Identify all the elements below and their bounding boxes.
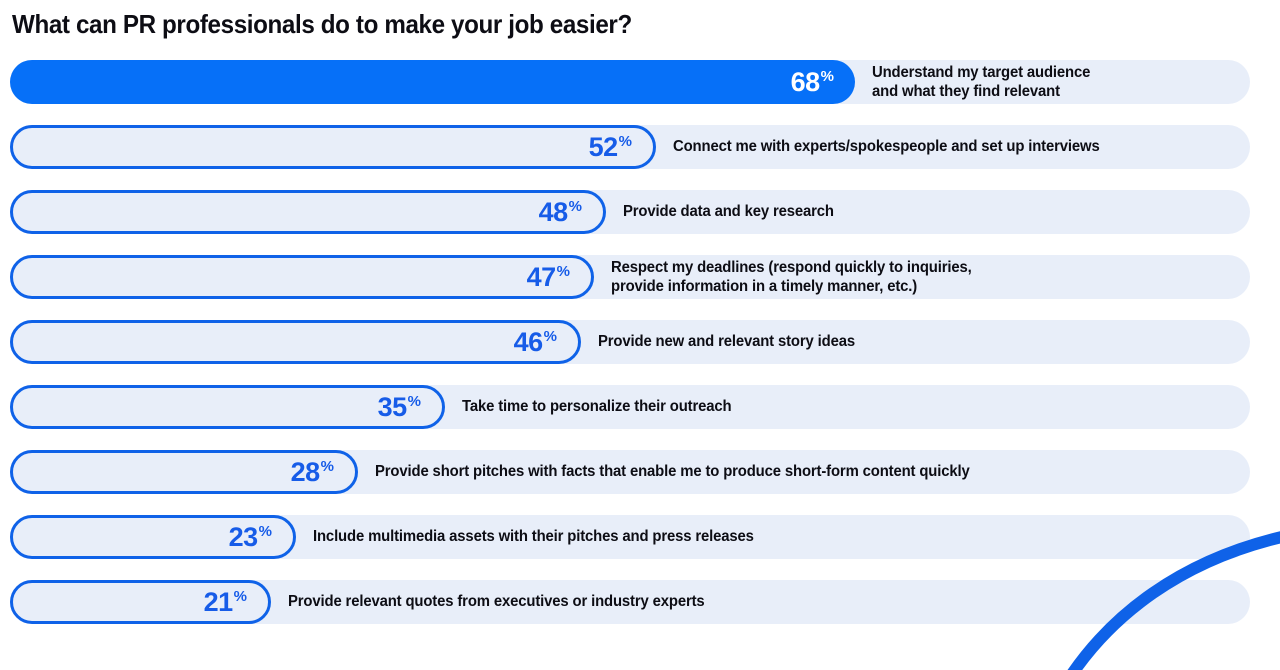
chart-figure: What can PR professionals do to make you… [0, 0, 1280, 670]
bar-68-percent: 68% [10, 60, 855, 104]
label-line: Provide new and relevant story ideas [598, 332, 855, 351]
bar-category-label: Provide data and key research [623, 190, 834, 234]
bar-value-number: 23 [229, 522, 258, 552]
bar-value-label: 23% [229, 524, 293, 551]
label-line: and what they find relevant [872, 82, 1090, 101]
bar-value-number: 21 [204, 587, 233, 617]
percent-symbol: % [557, 263, 570, 280]
percent-symbol: % [321, 458, 334, 475]
bar-46-percent: 46% [10, 320, 581, 364]
label-line: Take time to personalize their outreach [462, 397, 731, 416]
percent-symbol: % [234, 588, 247, 605]
bar-value-label: 52% [589, 134, 653, 161]
bar-value-number: 28 [291, 457, 320, 487]
bar-category-label: Respect my deadlines (respond quickly to… [611, 255, 972, 299]
chart-row: 68%Understand my target audienceand what… [0, 60, 1280, 104]
percent-symbol: % [544, 328, 557, 345]
bar-23-percent: 23% [10, 515, 296, 559]
percent-symbol: % [259, 523, 272, 540]
percent-symbol: % [821, 68, 834, 85]
bar-value-label: 35% [378, 394, 442, 421]
bar-value-number: 68 [791, 67, 820, 97]
bar-value-label: 68% [791, 69, 855, 96]
bar-chart-rows: 68%Understand my target audienceand what… [0, 60, 1280, 645]
bar-category-label: Connect me with experts/spokespeople and… [673, 125, 1100, 169]
bar-category-label: Provide relevant quotes from executives … [288, 580, 705, 624]
page-title: What can PR professionals do to make you… [12, 9, 1109, 40]
bar-value-label: 48% [539, 199, 603, 226]
label-line: Provide data and key research [623, 202, 834, 221]
bar-value-number: 35 [378, 392, 407, 422]
percent-symbol: % [408, 393, 421, 410]
label-line: Understand my target audience [872, 63, 1090, 82]
chart-row: 47%Respect my deadlines (respond quickly… [0, 255, 1280, 299]
label-line: Connect me with experts/spokespeople and… [673, 137, 1100, 156]
label-line: Include multimedia assets with their pit… [313, 527, 754, 546]
chart-row: 35%Take time to personalize their outrea… [0, 385, 1280, 429]
chart-row: 23%Include multimedia assets with their … [0, 515, 1280, 559]
bar-28-percent: 28% [10, 450, 358, 494]
bar-category-label: Include multimedia assets with their pit… [313, 515, 754, 559]
chart-row: 46%Provide new and relevant story ideas [0, 320, 1280, 364]
label-line: Respect my deadlines (respond quickly to… [611, 258, 972, 277]
bar-48-percent: 48% [10, 190, 606, 234]
bar-35-percent: 35% [10, 385, 445, 429]
bar-value-number: 48 [539, 197, 568, 227]
bar-category-label: Understand my target audienceand what th… [872, 60, 1090, 104]
bar-value-number: 52 [589, 132, 618, 162]
bar-21-percent: 21% [10, 580, 271, 624]
bar-value-number: 46 [514, 327, 543, 357]
bar-category-label: Take time to personalize their outreach [462, 385, 731, 429]
chart-row: 48%Provide data and key research [0, 190, 1280, 234]
bar-value-number: 47 [527, 262, 556, 292]
bar-category-label: Provide short pitches with facts that en… [375, 450, 970, 494]
label-line: Provide short pitches with facts that en… [375, 462, 970, 481]
bar-value-label: 47% [527, 264, 591, 291]
chart-row: 28%Provide short pitches with facts that… [0, 450, 1280, 494]
percent-symbol: % [619, 133, 632, 150]
percent-symbol: % [569, 198, 582, 215]
bar-category-label: Provide new and relevant story ideas [598, 320, 855, 364]
chart-row: 52%Connect me with experts/spokespeople … [0, 125, 1280, 169]
label-line: provide information in a timely manner, … [611, 277, 972, 296]
bar-value-label: 46% [514, 329, 578, 356]
label-line: Provide relevant quotes from executives … [288, 592, 705, 611]
bar-value-label: 28% [291, 459, 355, 486]
bar-value-label: 21% [204, 589, 268, 616]
bar-52-percent: 52% [10, 125, 656, 169]
chart-row: 21%Provide relevant quotes from executiv… [0, 580, 1280, 624]
bar-47-percent: 47% [10, 255, 594, 299]
